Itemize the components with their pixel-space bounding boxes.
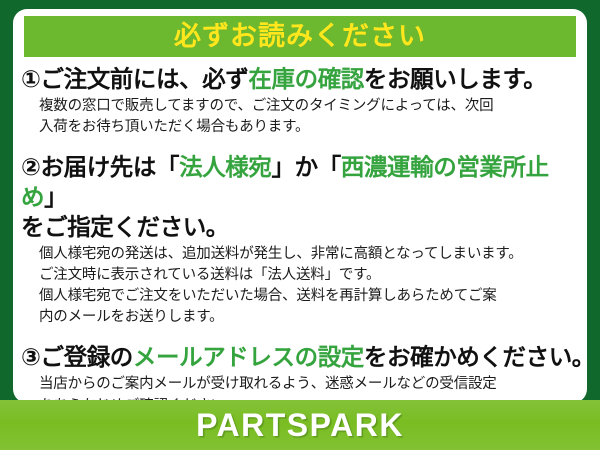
notice-list: ①ご注文前には、必ず在庫の確認をお願いします。 複数の窓口で販売してますので、ご… bbox=[13, 62, 587, 398]
notice-item-1-head-part-2: をお願いします。 bbox=[364, 66, 546, 92]
notice-item-2-body: 個人様宅宛の発送は、追加送料が発生し、非常に高額となってしまいます。 ご注文時に… bbox=[21, 244, 579, 328]
notice-item-2-heading: ②お届け先は「法人様宛」か「西濃運輸の営業所止め」をご指定ください。 bbox=[21, 152, 579, 242]
footer-band: PARTSPARK bbox=[0, 400, 600, 450]
notice-item-2-head-part-2: 」か「 bbox=[272, 154, 341, 180]
notice-item-3-body-line-0: 当店からのご案内メールが受け取れるよう、迷惑メールなどの受信設定 bbox=[39, 374, 579, 395]
notice-item-1-body-line-1: 入荷をお待ち頂いただく場合もあります。 bbox=[39, 117, 579, 138]
notice-item-2-body-line-0: 個人様宅宛の発送は、追加送料が発生し、非常に高額となってしまいます。 bbox=[39, 244, 579, 265]
notice-item-2-number: ② bbox=[21, 154, 41, 180]
notice-item-2-head-part-4: 」 bbox=[44, 184, 67, 210]
notice-item-3-head-part-2: をお確かめください。 bbox=[364, 344, 595, 370]
notice-item-1-heading: ①ご注文前には、必ず在庫の確認をお願いします。 bbox=[21, 64, 579, 94]
notice-item-1: ①ご注文前には、必ず在庫の確認をお願いします。 複数の窓口で販売してますので、ご… bbox=[21, 64, 579, 138]
page-title: 必ずお読みください bbox=[174, 23, 426, 50]
outer-green-frame: 必ずお読みください ①ご注文前には、必ず在庫の確認をお願いします。 複数の窓口で… bbox=[0, 0, 600, 450]
notice-item-2: ②お届け先は「法人様宛」か「西濃運輸の営業所止め」をご指定ください。 個人様宅宛… bbox=[21, 152, 579, 328]
notice-item-1-number: ① bbox=[21, 66, 41, 92]
notice-item-1-body-line-0: 複数の窓口で販売してますので、ご注文のタイミングによっては、次回 bbox=[39, 96, 579, 117]
header-banner: 必ずお読みください bbox=[24, 16, 576, 57]
notice-item-1-body: 複数の窓口で販売してますので、ご注文のタイミングによっては、次回 入荷をお待ち頂… bbox=[21, 96, 579, 138]
notice-item-1-head-part-0: ご注文前には、必ず bbox=[41, 66, 249, 92]
notice-item-2-head-highlight-1: 法人様宛 bbox=[179, 154, 271, 180]
notice-item-3-head-highlight: メールアドレスの設定 bbox=[133, 344, 364, 370]
notice-item-2-body-line-1: ご注文時に表示されている送料は「法人送料」です。 bbox=[39, 265, 579, 286]
notice-item-2-head-part-5: をご指定ください。 bbox=[21, 214, 229, 240]
notice-item-3-heading: ③ご登録のメールアドレスの設定をお確かめください。 bbox=[21, 342, 579, 372]
notice-item-2-head-part-0: お届け先は「 bbox=[41, 154, 180, 180]
notice-item-3-head-part-0: ご登録の bbox=[41, 344, 133, 370]
notice-item-2-body-line-2: 個人様宅宛でご注文をいただいた場合、送料を再計算しあらためてご案 bbox=[39, 286, 579, 307]
brand-logo: PARTSPARK bbox=[196, 409, 404, 441]
notice-item-1-head-highlight: 在庫の確認 bbox=[248, 66, 364, 92]
notice-item-3-number: ③ bbox=[21, 344, 41, 370]
notice-item-2-body-line-3: 内のメールをお送りします。 bbox=[39, 307, 579, 328]
